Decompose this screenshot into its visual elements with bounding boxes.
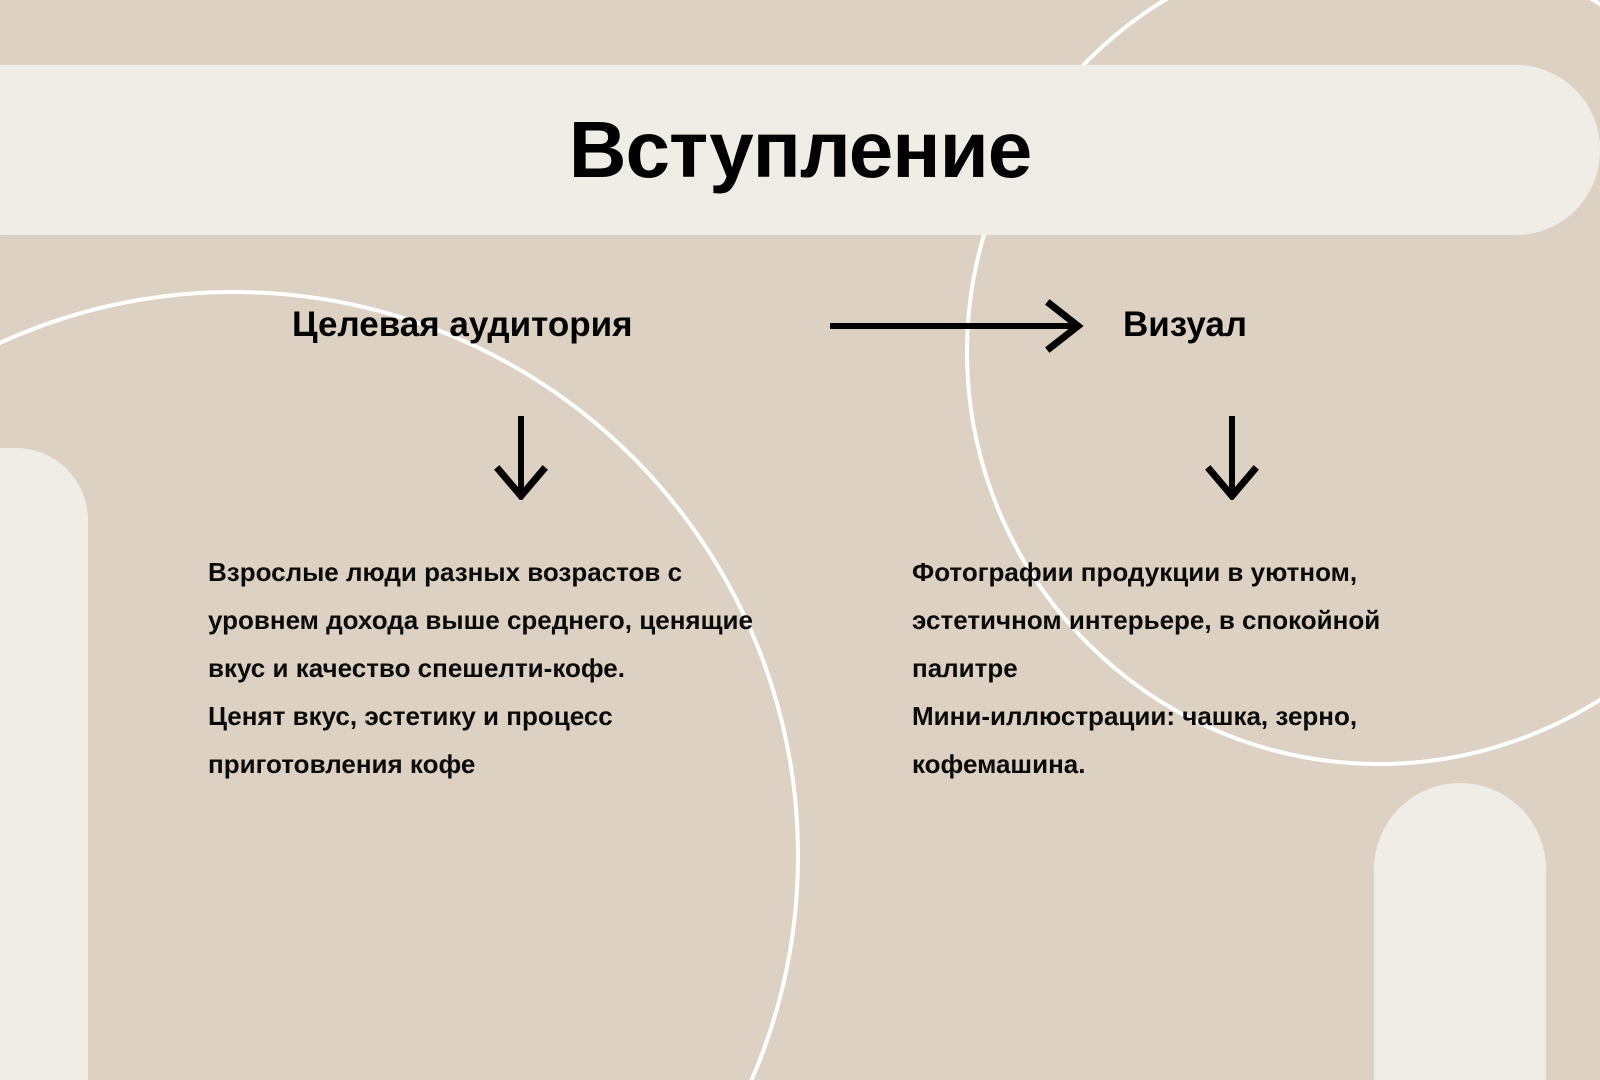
column-header-row: Целевая аудитория Визуал xyxy=(0,296,1600,354)
body-text-target-audience: Взрослые люди разных возрастов с уровнем… xyxy=(208,548,788,788)
left-panel-shape xyxy=(0,448,88,1080)
bottom-right-arch-shape xyxy=(1374,783,1546,1080)
column-header-target-audience: Целевая аудитория xyxy=(292,296,633,354)
arrow-down-icon-left xyxy=(493,414,549,500)
column-header-visual: Визуал xyxy=(1123,296,1247,354)
arrow-down-icon-right xyxy=(1204,414,1260,500)
arrow-right-icon xyxy=(828,298,1086,354)
body-text-visual: Фотографии продукции в уютном, эстетично… xyxy=(912,548,1492,788)
title-bar: Вступление xyxy=(0,65,1600,235)
presentation-slide: Вступление Целевая аудитория Визуал Взро… xyxy=(0,0,1600,1080)
page-title: Вступление xyxy=(569,110,1032,190)
